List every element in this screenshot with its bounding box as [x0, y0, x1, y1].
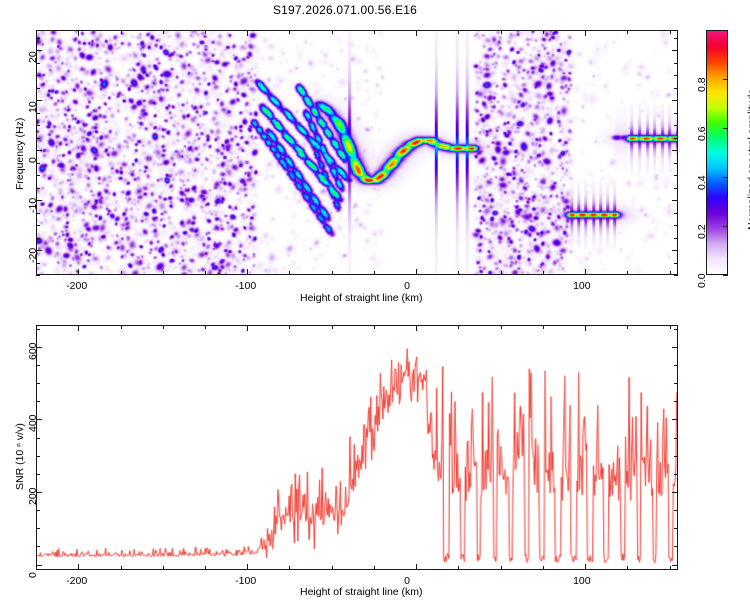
spectrogram-ylabel: Frequency (Hz)	[14, 118, 26, 190]
x-tick	[289, 30, 290, 34]
x-tick	[458, 325, 459, 329]
snr-trace	[37, 326, 677, 569]
y-tick	[674, 546, 678, 547]
x-tick	[36, 30, 37, 34]
snr-ylabel: SNR (10 ⁿ v/v)	[14, 423, 26, 490]
y-tick	[672, 250, 678, 251]
x-tick-label: 100	[573, 280, 591, 292]
x-tick	[78, 564, 79, 570]
y-tick	[36, 125, 40, 126]
x-tick	[163, 30, 164, 34]
x-tick	[205, 566, 206, 570]
x-tick	[332, 271, 333, 275]
x-tick	[78, 30, 79, 36]
x-tick	[121, 30, 122, 34]
y-tick	[672, 347, 678, 348]
x-tick	[289, 271, 290, 275]
y-tick-label: 0	[27, 157, 39, 163]
y-tick	[674, 138, 678, 139]
y-tick	[36, 329, 40, 330]
x-tick	[121, 566, 122, 570]
y-tick	[36, 565, 42, 566]
x-tick	[247, 30, 248, 36]
snr-xlabel: Height of straight line (km)	[300, 586, 423, 598]
x-tick	[163, 325, 164, 329]
x-tick	[416, 30, 417, 36]
x-tick	[585, 564, 586, 570]
x-tick-label: -200	[66, 575, 87, 587]
x-tick	[78, 269, 79, 275]
y-tick	[674, 456, 678, 457]
y-tick-label: 0	[27, 572, 39, 578]
y-tick-label: 10	[27, 101, 39, 113]
y-tick	[672, 565, 678, 566]
figure-root: S197.2026.071.00.56.E16 -200-1000100-20-…	[0, 0, 750, 600]
x-tick	[501, 566, 502, 570]
y-tick	[674, 188, 678, 189]
y-tick	[36, 88, 40, 89]
x-tick	[670, 271, 671, 275]
y-tick	[674, 225, 678, 226]
colorbar	[706, 30, 728, 275]
x-tick	[205, 30, 206, 34]
x-tick	[332, 30, 333, 34]
x-tick	[543, 271, 544, 275]
x-tick	[36, 566, 37, 570]
x-tick	[205, 325, 206, 329]
y-tick	[36, 275, 40, 276]
x-tick	[374, 271, 375, 275]
x-tick	[585, 325, 586, 331]
x-tick	[332, 325, 333, 329]
y-tick	[36, 546, 40, 547]
colorbar-label: Normalized spectral amplitude	[746, 89, 750, 230]
y-tick-label: -20	[27, 248, 39, 263]
x-tick	[670, 566, 671, 570]
y-tick	[674, 263, 678, 264]
y-tick	[674, 510, 678, 511]
x-tick	[458, 271, 459, 275]
x-tick	[627, 271, 628, 275]
colorbar-tick	[723, 226, 728, 227]
x-tick	[627, 566, 628, 570]
y-tick	[36, 456, 40, 457]
y-tick	[36, 438, 40, 439]
y-tick	[674, 275, 678, 276]
x-tick	[163, 271, 164, 275]
x-tick	[78, 325, 79, 331]
spectrogram-image	[37, 31, 677, 274]
y-tick	[36, 383, 40, 384]
colorbar-tick-label: 0.2	[696, 224, 708, 239]
x-tick	[543, 30, 544, 34]
y-tick	[36, 150, 42, 151]
x-tick	[289, 325, 290, 329]
x-tick	[289, 566, 290, 570]
x-tick	[501, 325, 502, 329]
x-tick	[543, 566, 544, 570]
x-tick	[670, 30, 671, 34]
colorbar-tick-label: 0.0	[696, 273, 708, 288]
y-tick	[674, 88, 678, 89]
y-tick	[672, 50, 678, 51]
x-tick	[247, 325, 248, 331]
x-tick	[374, 566, 375, 570]
colorbar-tick	[723, 79, 728, 80]
x-tick	[543, 325, 544, 329]
y-tick-label: 20	[27, 51, 39, 63]
x-tick	[374, 30, 375, 34]
y-tick	[674, 213, 678, 214]
y-tick	[674, 175, 678, 176]
y-tick	[36, 510, 40, 511]
x-tick	[121, 325, 122, 329]
x-tick	[374, 325, 375, 329]
y-tick-label: 400	[27, 415, 39, 433]
y-tick-label: 200	[27, 487, 39, 505]
spectrogram-panel	[36, 30, 678, 275]
y-tick	[672, 492, 678, 493]
y-tick	[36, 175, 40, 176]
colorbar-tick-label: 0.6	[696, 126, 708, 141]
x-tick	[247, 269, 248, 275]
x-tick-label: -100	[235, 575, 256, 587]
y-tick	[36, 365, 40, 366]
colorbar-gradient	[707, 31, 727, 274]
y-tick	[674, 63, 678, 64]
x-tick	[670, 325, 671, 329]
y-tick	[674, 113, 678, 114]
x-tick	[416, 564, 417, 570]
x-tick	[627, 325, 628, 329]
y-tick	[674, 383, 678, 384]
y-tick	[36, 238, 40, 239]
y-tick	[674, 125, 678, 126]
y-tick	[36, 474, 40, 475]
y-tick	[36, 188, 40, 189]
y-tick	[672, 150, 678, 151]
y-tick	[36, 401, 40, 402]
x-tick	[585, 269, 586, 275]
y-tick	[674, 329, 678, 330]
figure-title: S197.2026.071.00.56.E16	[0, 3, 690, 17]
y-tick-label: -10	[27, 198, 39, 213]
y-tick	[36, 75, 40, 76]
y-tick	[674, 238, 678, 239]
x-tick	[501, 30, 502, 34]
colorbar-tick-label: 0.8	[696, 77, 708, 92]
spectrogram-xlabel: Height of straight line (km)	[300, 292, 423, 304]
x-tick-label: -200	[66, 280, 87, 292]
x-tick	[416, 325, 417, 331]
x-tick-label: -100	[235, 280, 256, 292]
y-tick	[36, 528, 40, 529]
x-tick	[163, 566, 164, 570]
y-tick-label: 600	[27, 342, 39, 360]
snr-panel	[36, 325, 678, 570]
x-tick-label: 0	[404, 280, 410, 292]
x-tick	[501, 271, 502, 275]
colorbar-tick	[723, 275, 728, 276]
x-tick-label: 100	[573, 575, 591, 587]
y-tick	[674, 38, 678, 39]
x-tick	[416, 269, 417, 275]
y-tick	[672, 419, 678, 420]
x-tick	[585, 30, 586, 36]
colorbar-tick	[723, 177, 728, 178]
y-tick	[672, 200, 678, 201]
x-tick	[458, 30, 459, 34]
x-tick	[627, 30, 628, 34]
colorbar-tick	[723, 128, 728, 129]
y-tick	[674, 365, 678, 366]
x-tick	[121, 271, 122, 275]
y-tick	[36, 38, 40, 39]
x-tick	[332, 566, 333, 570]
y-tick	[674, 401, 678, 402]
y-tick	[672, 100, 678, 101]
y-tick	[674, 438, 678, 439]
y-tick	[36, 138, 40, 139]
y-tick	[674, 474, 678, 475]
colorbar-tick-label: 0.4	[696, 175, 708, 190]
x-tick	[247, 564, 248, 570]
y-tick	[674, 528, 678, 529]
y-tick	[674, 163, 678, 164]
x-tick	[205, 271, 206, 275]
y-tick	[674, 75, 678, 76]
x-tick	[458, 566, 459, 570]
y-tick	[36, 225, 40, 226]
